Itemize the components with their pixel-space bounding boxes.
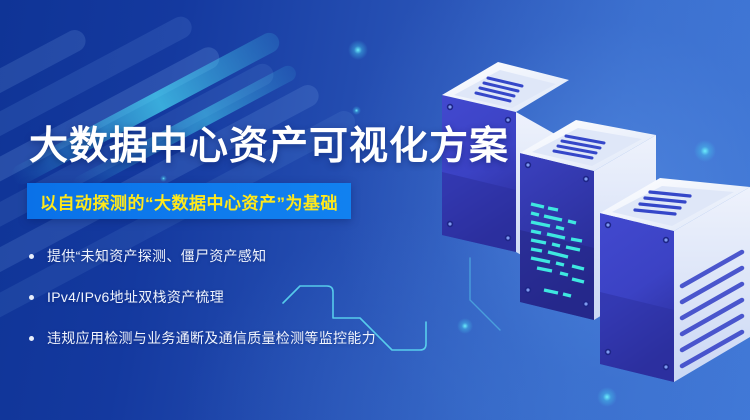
bullet-dot-icon [29, 336, 34, 341]
bullet-dot-icon [29, 254, 34, 259]
list-item: 违规应用检测与业务通断及通信质量检测等监控能力 [29, 323, 429, 353]
promo-banner: 大数据中心资产可视化方案 以自动探测的“大数据中心资产”为基础 提供“未知资产探… [0, 0, 750, 420]
glow-particle [160, 175, 167, 182]
list-item-label: IPv4/IPv6地址双栈资产梳理 [47, 287, 224, 307]
banner-title: 大数据中心资产可视化方案 [29, 127, 509, 166]
list-item-label: 违规应用检测与业务通断及通信质量检测等监控能力 [47, 328, 376, 348]
list-item: IPv4/IPv6地址双栈资产梳理 [29, 282, 429, 312]
feature-list: 提供“未知资产探测、僵尸资产感知 IPv4/IPv6地址双栈资产梳理 违规应用检… [29, 241, 429, 364]
glow-particle [348, 40, 368, 60]
list-item: 提供“未知资产探测、僵尸资产感知 [29, 241, 429, 271]
banner-tagline-text: 以自动探测的“大数据中心资产”为基础 [40, 189, 338, 214]
server-rack-3 [600, 178, 750, 382]
server-rack-illustration [432, 52, 750, 420]
glow-particle [352, 106, 361, 115]
list-item-label: 提供“未知资产探测、僵尸资产感知 [47, 246, 266, 266]
banner-tagline: 以自动探测的“大数据中心资产”为基础 [27, 183, 351, 219]
bullet-dot-icon [29, 295, 34, 300]
